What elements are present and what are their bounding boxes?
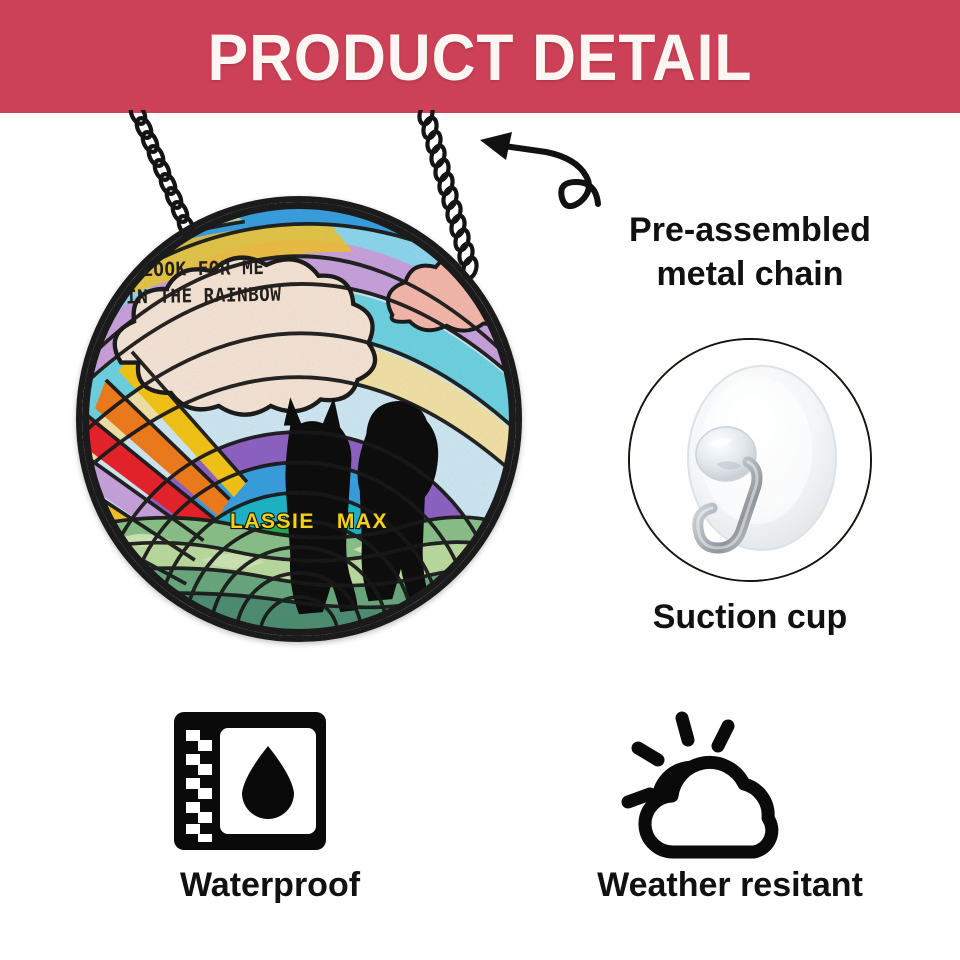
page-title: PRODUCT DETAIL — [208, 19, 753, 95]
chain-label-line-1: Pre-assembled — [560, 208, 940, 252]
quote-line-1: LOOK FOR ME — [103, 254, 303, 285]
weather-resistant-label: Weather resitant — [520, 866, 940, 905]
pet-names: LASSIE MAX — [230, 510, 460, 534]
curved-arrow-icon — [470, 112, 610, 217]
product-detail-page: PRODUCT DETAIL — [0, 0, 960, 960]
suncatcher-quote: LOOK FOR ME IN THE RAINBOW — [103, 254, 304, 312]
suction-cup-label: Suction cup — [560, 598, 940, 637]
quote-line-2: IN THE RAINBOW — [104, 281, 304, 312]
suncatcher-product-image: LOOK FOR ME IN THE RAINBOW LASSIE MAX — [60, 110, 540, 670]
waterproof-droplet-icon — [170, 706, 330, 856]
chain-label: Pre-assembled metal chain — [560, 208, 940, 296]
page-header-banner: PRODUCT DETAIL — [0, 0, 960, 113]
chain-label-line-2: metal chain — [560, 252, 940, 296]
pet-name-2: MAX — [337, 510, 388, 534]
pet-name-1: LASSIE — [230, 510, 315, 534]
suction-cup-photo — [628, 338, 872, 582]
sun-behind-cloud-icon — [612, 706, 808, 862]
waterproof-label: Waterproof — [100, 866, 440, 905]
